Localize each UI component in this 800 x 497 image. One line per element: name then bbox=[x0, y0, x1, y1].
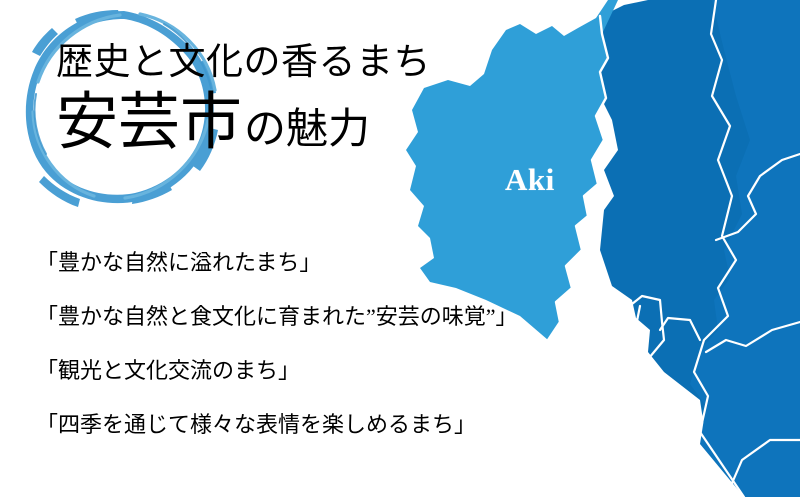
page-title-suffix: の魅力 bbox=[242, 109, 370, 154]
page-title-line-2: 安芸市 の魅力 bbox=[56, 92, 370, 154]
tagline-list: 「豊かな自然に溢れたまち」 「豊かな自然と食文化に育まれた”安芸の味覚”」 「観… bbox=[36, 252, 636, 436]
tagline-item: 「豊かな自然に溢れたまち」 bbox=[36, 252, 636, 274]
page-title-city-name: 安芸市 bbox=[56, 92, 242, 154]
tagline-item: 「四季を通じて様々な表情を楽しめるまち」 bbox=[36, 414, 636, 436]
title-block: 歴史と文化の香るまち 安芸市 の魅力 bbox=[0, 0, 470, 215]
tagline-item: 「豊かな自然と食文化に育まれた”安芸の味覚”」 bbox=[36, 306, 636, 328]
tagline-item: 「観光と文化交流のまち」 bbox=[36, 360, 636, 382]
map-label-aki: Aki bbox=[505, 164, 555, 195]
page-title-line-1: 歴史と文化の香るまち bbox=[56, 44, 431, 81]
poster-canvas: 歴史と文化の香るまち 安芸市 の魅力 「豊かな自然に溢れたまち」 「豊かな自然と… bbox=[0, 0, 800, 497]
